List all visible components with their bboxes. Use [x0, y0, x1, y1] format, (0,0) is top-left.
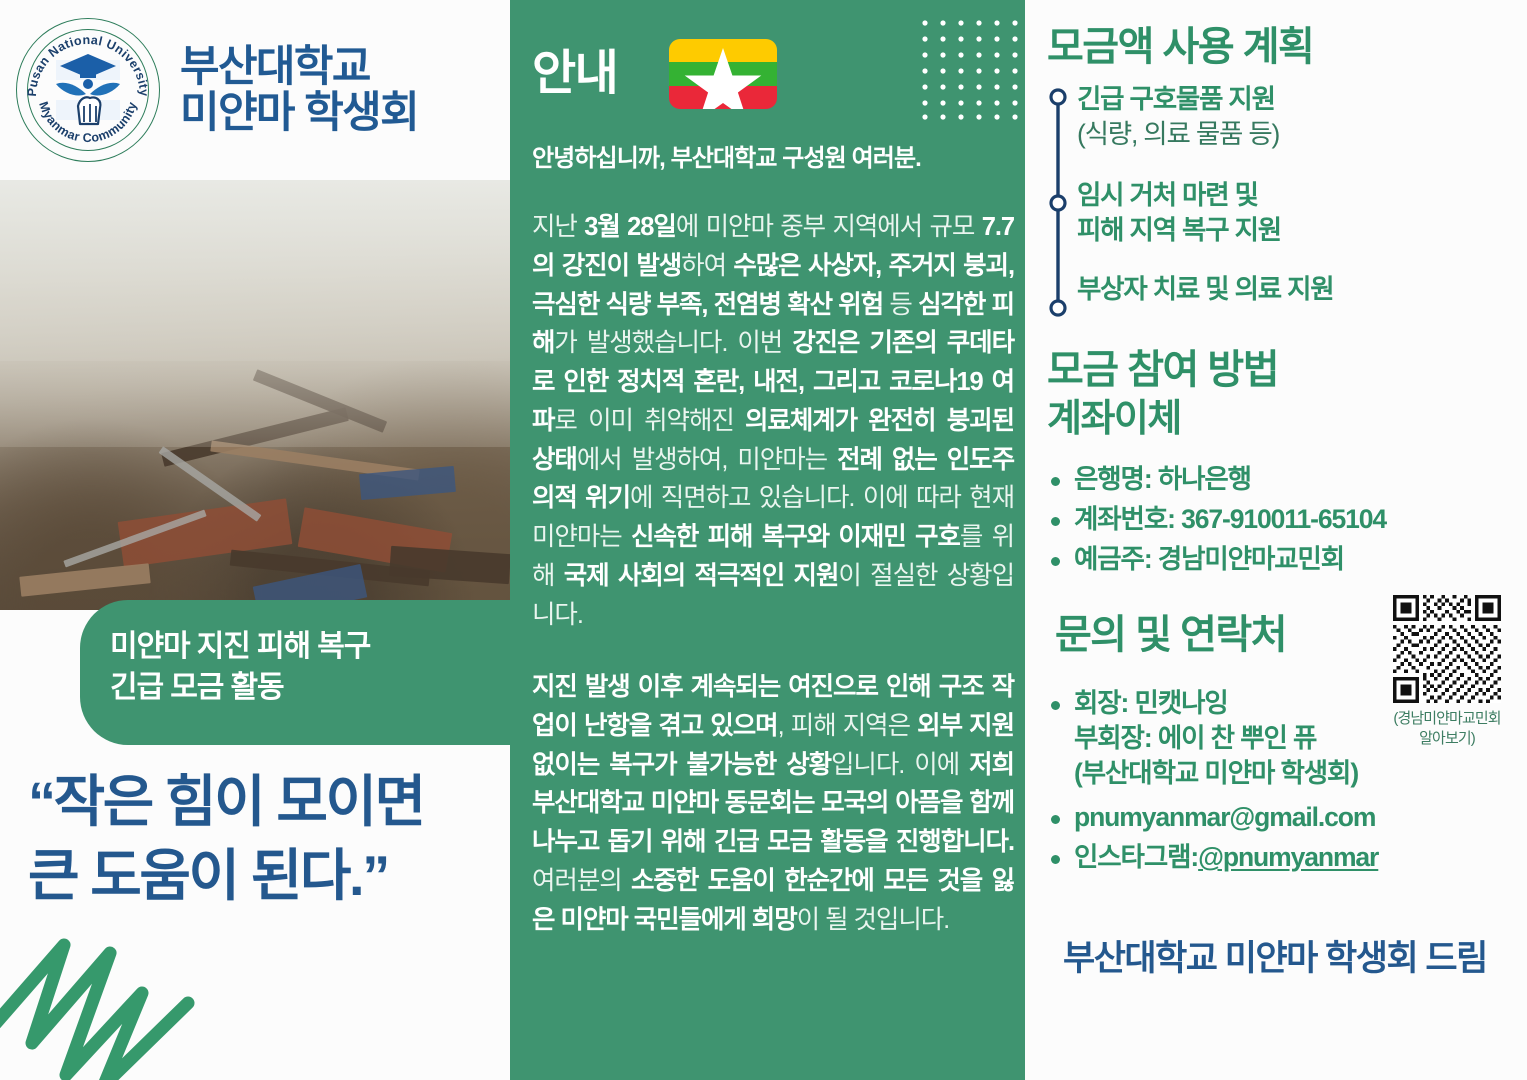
contact-vice-president: 부회장: 에이 찬 뿌인 퓨 [1074, 721, 1358, 756]
brand-header: Pusan National University Myanmar Commun… [0, 0, 510, 180]
instagram-handle-link[interactable]: @pnumyanmar [1198, 840, 1378, 875]
right-column: 모금액 사용 계획 긴급 구호물품 지원 (식량, 의료 물품 등) 임시 거처… [1025, 0, 1527, 1080]
plan-item-2-main: 임시 거처 마련 및 [1077, 180, 1258, 210]
plan-item-2-sub: 피해 지역 복구 지원 [1077, 213, 1281, 248]
account-holder-label: 예금주: 경남미얀마교민회 [1074, 542, 1344, 577]
logo-graduation-hands-icon [40, 44, 136, 140]
bank-name-row: 은행명: 하나은행 [1051, 462, 1251, 497]
plan-item-3: 부상자 치료 및 의료 지원 [1077, 272, 1333, 307]
left-column: Pusan National University Myanmar Commun… [0, 0, 510, 1080]
bullet-dot-icon [1051, 855, 1060, 864]
qr-code-block[interactable]: (경남미얀마교민회 알아보기) [1387, 595, 1507, 748]
page-title: 부산대학교 미얀마 학생회 [180, 44, 418, 137]
qr-caption: (경남미얀마교민회 알아보기) [1387, 709, 1507, 748]
myanmar-flag-icon [669, 39, 777, 109]
signature-text: 부산대학교 미얀마 학생회 드림 [1063, 930, 1487, 981]
contact-heading: 문의 및 연락처 [1055, 613, 1286, 658]
caption-line2: 긴급 모금 활동 [110, 671, 283, 704]
qr-caption-line2: 알아보기) [1387, 729, 1507, 749]
bullet-dot-icon [1051, 701, 1060, 710]
pnu-myanmar-community-logo: Pusan National University Myanmar Commun… [12, 14, 164, 166]
contact-person-row: 회장: 민캣나잉 부회장: 에이 찬 뿌인 퓨 (부산대학교 미얀마 학생회) [1051, 686, 1358, 791]
plan-item-3-main: 부상자 치료 및 의료 지원 [1077, 274, 1333, 304]
contact-person-block: 회장: 민캣나잉 부회장: 에이 찬 뿌인 퓨 (부산대학교 미얀마 학생회) [1074, 686, 1358, 791]
bullet-dot-icon [1051, 477, 1060, 486]
account-holder-row: 예금주: 경남미얀마교민회 [1051, 542, 1344, 577]
plan-item-1-sub: (식량, 의료 물품 등) [1077, 117, 1279, 152]
contact-affiliation: (부산대학교 미얀마 학생회) [1074, 756, 1358, 791]
account-number-row: 계좌번호: 367-910011-65104 [1051, 502, 1386, 537]
info-panel: 안내 안녕하십니까, 부산대학교 구성원 여러분. 지난 [510, 0, 1025, 1080]
qr-code[interactable] [1393, 595, 1501, 703]
contact-instagram-row[interactable]: 인스타그램: @pnumyanmar [1051, 840, 1378, 875]
greeting-text: 안녕하십니까, 부산대학교 구성원 여러분. [532, 138, 1012, 173]
bullet-dot-icon [1051, 557, 1060, 566]
plan-item-2: 임시 거처 마련 및 피해 지역 복구 지원 [1077, 178, 1281, 248]
contact-email-link[interactable]: pnumyanmar@gmail.com [1074, 800, 1375, 835]
body-paragraph-2: 지진 발생 이후 계속되는 여진으로 인해 구조 작업이 난항을 겪고 있으며,… [532, 668, 1014, 939]
contact-president: 회장: 민캣나잉 [1074, 686, 1358, 721]
brand-title-line2: 미얀마 학생회 [180, 90, 418, 136]
quote-line2: 큰 도움이 된다.” [28, 839, 498, 913]
photo-caption-banner: 미얀마 지진 피해 복구 긴급 모금 활동 [80, 600, 520, 745]
info-heading: 안내 [532, 50, 617, 98]
dot-grid-decoration-icon [920, 18, 1018, 120]
bullet-dot-icon [1051, 815, 1060, 824]
join-heading: 모금 참여 방법 [1047, 348, 1278, 393]
brand-title-line1: 부산대학교 [180, 43, 370, 91]
qr-caption-line1: (경남미얀마교민회 [1387, 709, 1507, 729]
earthquake-damage-photo [0, 180, 510, 610]
flag-star-icon [669, 39, 777, 109]
photo-dust-haze [0, 180, 510, 447]
plan-heading: 모금액 사용 계획 [1047, 25, 1313, 70]
plan-item-1: 긴급 구호물품 지원 (식량, 의료 물품 등) [1077, 82, 1279, 152]
poster-root: Pusan National University Myanmar Commun… [0, 0, 1527, 1080]
caption-line1: 미얀마 지진 피해 복구 [110, 630, 370, 663]
instagram-label: 인스타그램: [1074, 840, 1198, 875]
bullet-dot-icon [1051, 517, 1060, 526]
scribble-decoration-icon [0, 925, 222, 1080]
plan-timeline-icon [1045, 85, 1081, 320]
body-paragraph-1: 지난 3월 28일에 미얀마 중부 지역에서 규모 7.7의 강진이 발생하여 … [532, 208, 1014, 634]
plan-item-1-main: 긴급 구호물품 지원 [1077, 84, 1275, 114]
slogan-quote: “작은 힘이 모이면 큰 도움이 된다.” [28, 765, 498, 914]
quote-line1: “작은 힘이 모이면 [28, 770, 424, 833]
contact-email-row[interactable]: pnumyanmar@gmail.com [1051, 800, 1375, 835]
join-subheading: 계좌이체 [1047, 398, 1181, 441]
bank-name-label: 은행명: 하나은행 [1074, 462, 1251, 497]
account-number-label: 계좌번호: 367-910011-65104 [1074, 502, 1386, 537]
